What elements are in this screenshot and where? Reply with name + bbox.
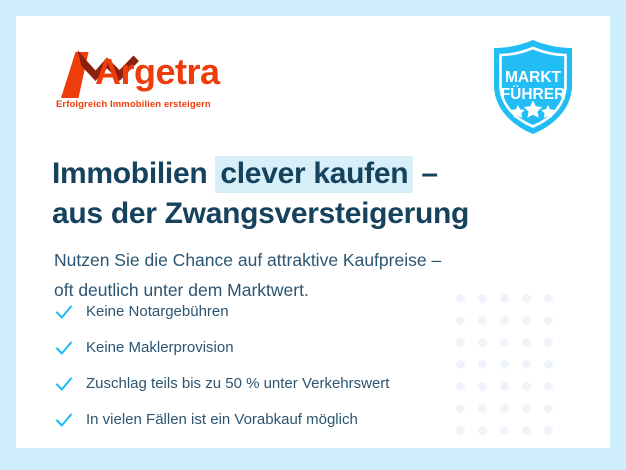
page-title: Immobilien clever kaufen – aus der Zwang… [52, 154, 469, 234]
decorative-dot [500, 316, 509, 325]
subheading: Nutzen Sie die Chance auf attraktive Kau… [54, 245, 441, 305]
decorative-dot [522, 426, 531, 435]
check-icon [54, 410, 74, 430]
decorative-dot [500, 360, 509, 369]
decorative-dot [456, 360, 465, 369]
check-icon [54, 338, 74, 358]
list-item-label: Keine Maklerprovision [86, 338, 234, 358]
decorative-dot [544, 316, 553, 325]
decorative-dot [478, 338, 487, 347]
decorative-dot [522, 316, 531, 325]
decorative-dot-grid [456, 294, 566, 448]
decorative-dot [522, 382, 531, 391]
list-item: Keine Maklerprovision [54, 333, 389, 363]
decorative-dot [500, 426, 509, 435]
benefit-list: Keine Notargebühren Keine Maklerprovisio… [54, 297, 389, 441]
check-icon [54, 374, 74, 394]
list-item-label: Keine Notargebühren [86, 302, 229, 322]
decorative-dot [478, 426, 487, 435]
decorative-dot [478, 360, 487, 369]
argetra-logo[interactable]: Argetra Erfolgreich Immobilien ersteiger… [55, 44, 255, 98]
list-item-label: In vielen Fällen ist ein Vorabkauf mögli… [86, 410, 358, 430]
decorative-dot [456, 426, 465, 435]
list-item-label: Zuschlag teils bis zu 50 % unter Verkehr… [86, 374, 389, 394]
subheading-line1: Nutzen Sie die Chance auf attraktive Kau… [54, 250, 441, 270]
decorative-dot [456, 382, 465, 391]
decorative-dot [478, 316, 487, 325]
headline-line1: Immobilien clever kaufen – [52, 156, 438, 193]
check-icon [54, 302, 74, 322]
decorative-dot [544, 360, 553, 369]
badge-line2: FÜHRER [501, 86, 566, 103]
promo-card: Argetra Erfolgreich Immobilien ersteiger… [16, 16, 610, 448]
list-item: In vielen Fällen ist ein Vorabkauf mögli… [54, 405, 389, 435]
decorative-dot [456, 338, 465, 347]
decorative-dot [478, 382, 487, 391]
decorative-dot [522, 338, 531, 347]
logo-mark-row: Argetra [55, 44, 255, 98]
headline-highlight: clever kaufen [215, 156, 413, 193]
badge-line1: MARKT [505, 69, 561, 86]
list-item: Zuschlag teils bis zu 50 % unter Verkehr… [54, 369, 389, 399]
decorative-dot [478, 404, 487, 413]
headline-line1-before: Immobilien [52, 157, 215, 190]
decorative-dot [500, 294, 509, 303]
decorative-dot [456, 316, 465, 325]
shield-badge-icon: MARKT FÜHRER [489, 39, 577, 135]
decorative-dot [500, 382, 509, 391]
decorative-dot [522, 404, 531, 413]
markt-fuehrer-badge: MARKT FÜHRER [489, 39, 577, 135]
logo-tagline: Erfolgreich Immobilien ersteigern [56, 99, 211, 110]
decorative-dot [456, 294, 465, 303]
decorative-dot [544, 426, 553, 435]
headline-line2: aus der Zwangsversteigerung [52, 197, 469, 230]
decorative-dot [544, 338, 553, 347]
logo-wordmark: Argetra [95, 50, 220, 94]
decorative-dot [544, 294, 553, 303]
decorative-dot [456, 404, 465, 413]
decorative-dot [500, 404, 509, 413]
decorative-dot [478, 294, 487, 303]
decorative-dot [500, 338, 509, 347]
decorative-dot [544, 382, 553, 391]
decorative-dot [522, 360, 531, 369]
decorative-dot [544, 404, 553, 413]
list-item: Keine Notargebühren [54, 297, 389, 327]
promo-card-frame: Argetra Erfolgreich Immobilien ersteiger… [0, 0, 626, 470]
headline-line1-after: – [413, 157, 437, 190]
decorative-dot [522, 294, 531, 303]
